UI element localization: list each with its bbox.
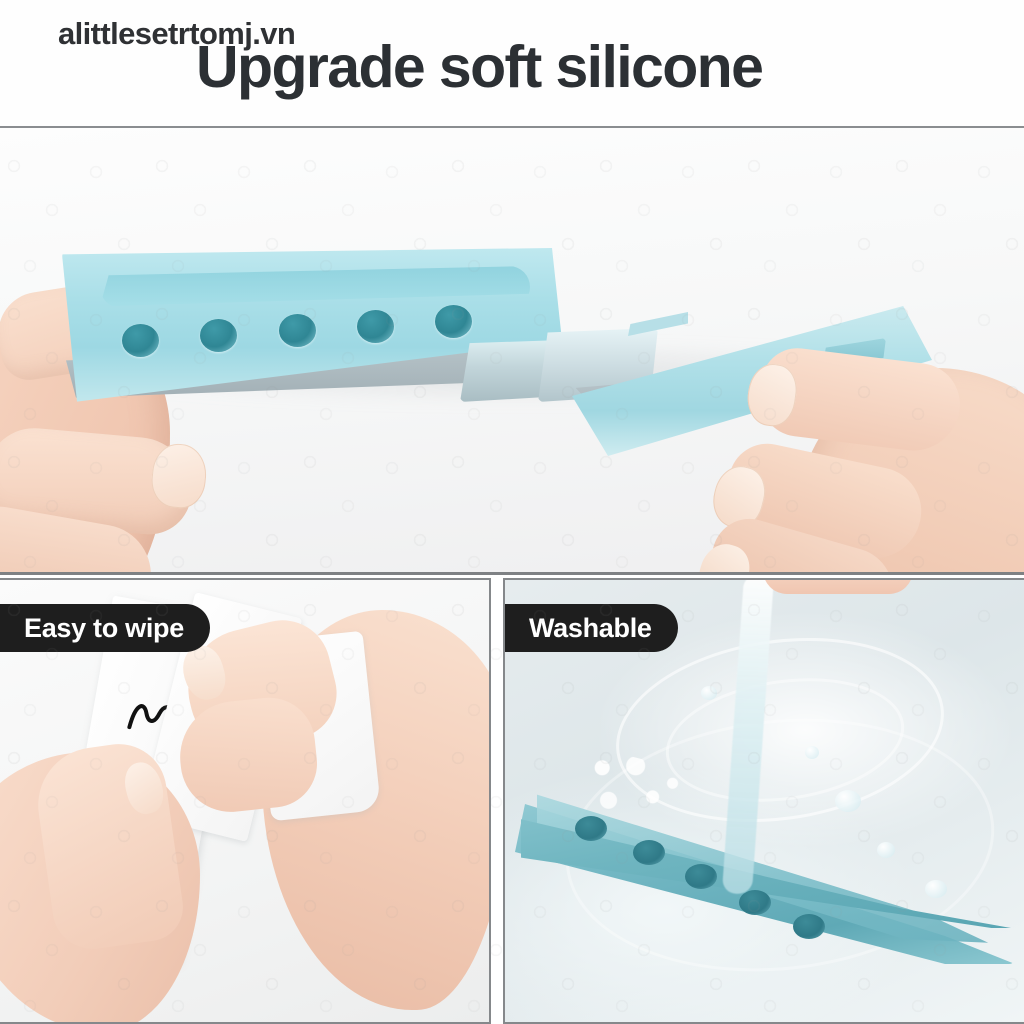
header-banner: Upgrade soft silicone alittlesetrtomj.vn	[0, 0, 1024, 127]
water-droplet	[835, 790, 861, 812]
squeegee-notch	[628, 312, 688, 336]
badge-label: Easy to wipe	[24, 615, 184, 642]
drain-hole	[685, 864, 717, 889]
drain-hole	[279, 314, 316, 347]
feature-panel-washable: Washable	[503, 578, 1024, 1024]
fingertip	[763, 578, 913, 594]
drain-hole	[200, 319, 237, 352]
drain-hole	[633, 840, 665, 865]
hero-product-photo	[0, 128, 1024, 575]
badge-label: Washable	[529, 615, 652, 642]
right-hand	[700, 338, 1024, 575]
badge-washable: Washable	[503, 604, 678, 652]
squeegee-in-water	[511, 740, 1024, 1024]
badge-easy-to-wipe: Easy to wipe	[0, 604, 210, 652]
water-droplet	[877, 842, 895, 858]
drain-hole	[739, 890, 771, 915]
water-droplet	[925, 880, 947, 898]
water-droplet	[805, 746, 819, 759]
drain-hole	[435, 305, 472, 338]
drain-hole	[122, 324, 159, 357]
drain-hole	[357, 310, 394, 343]
drain-hole	[793, 914, 825, 939]
seller-watermark: alittlesetrtomj.vn	[58, 16, 295, 52]
feature-panel-easy-to-wipe: Easy to wipe	[0, 578, 491, 1024]
feature-panels: Easy to wipe	[0, 578, 1024, 1024]
header-divider	[0, 126, 1024, 128]
water-droplet	[701, 686, 717, 700]
product-listing-image: Upgrade soft silicone alittlesetrtomj.vn	[0, 0, 1024, 1024]
